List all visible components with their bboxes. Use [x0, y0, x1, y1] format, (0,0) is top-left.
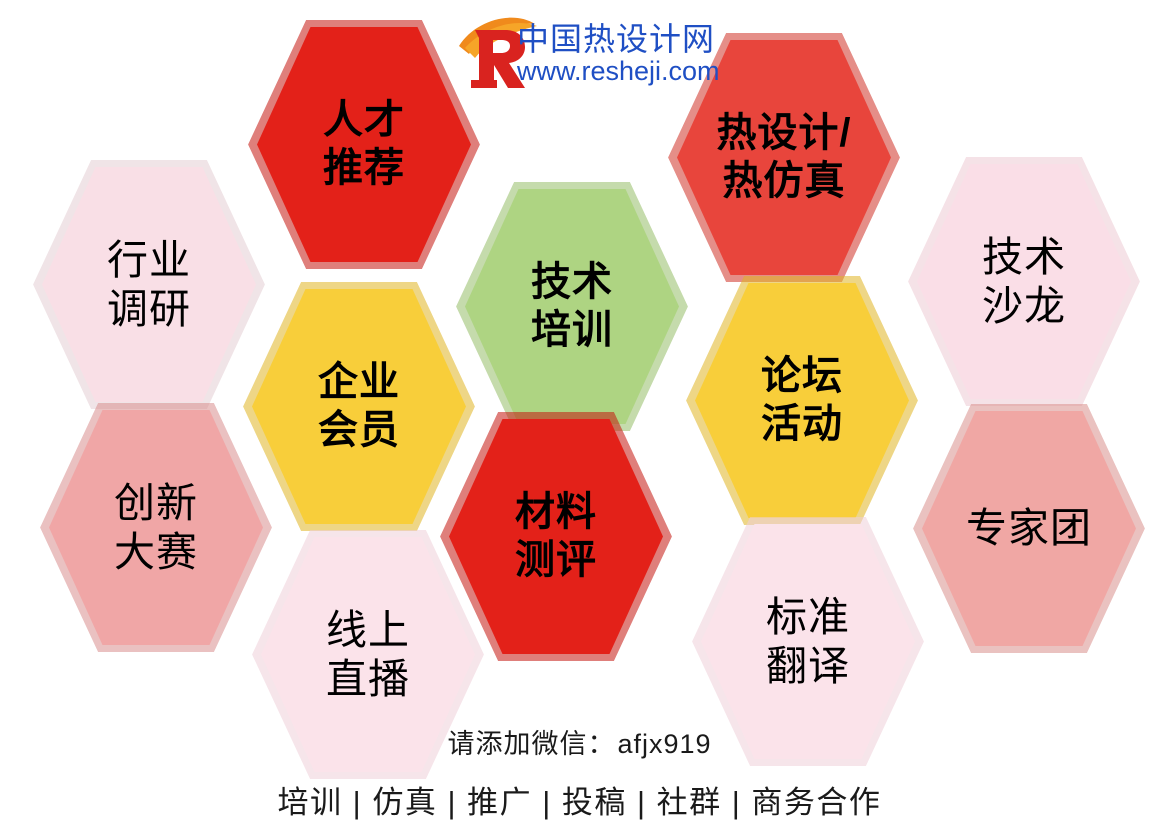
hexagon-label: 技术 沙龙 [982, 233, 1066, 330]
hexagon-expert-team[interactable]: 专家团 [913, 404, 1145, 653]
hexagon-label: 论坛 活动 [761, 353, 843, 447]
wechat-id: afjx919 [617, 729, 711, 759]
services-list: 培训 | 仿真 | 推广 | 投稿 | 社群 | 商务合作 [0, 777, 1159, 822]
wechat-label: 请添加微信： [447, 729, 615, 759]
hexagon-label: 人才 推荐 [323, 97, 405, 191]
logo-chinese-name: 中国热设计网 [517, 14, 715, 60]
hexagon-label: 材料 测评 [515, 489, 597, 583]
hexagon-industry-research[interactable]: 行业 调研 [33, 160, 265, 409]
hexagon-enterprise-member[interactable]: 企业 会员 [243, 282, 475, 531]
hexagon-label: 行业 调研 [107, 236, 191, 333]
hexagon-label: 技术 培训 [531, 259, 613, 353]
hexagon-label: 热设计/ 热仿真 [716, 110, 851, 204]
hexagon-label: 线上 直播 [326, 606, 410, 703]
hexagon-label: 企业 会员 [318, 359, 400, 453]
hexagon-technical-training[interactable]: 技术 培训 [456, 182, 688, 431]
hexagon-innovation-contest[interactable]: 创新 大赛 [40, 403, 272, 652]
infographic-canvas: 人才 推荐行业 调研热设计/ 热仿真技术 培训技术 沙龙企业 会员论坛 活动创新… [0, 0, 1159, 828]
hexagon-technical-salon[interactable]: 技术 沙龙 [908, 157, 1140, 406]
hexagon-forum-activity[interactable]: 论坛 活动 [686, 276, 918, 525]
hexagon-label: 创新 大赛 [114, 479, 198, 576]
site-logo[interactable]: 中国热设计网 www.resheji.com [455, 12, 685, 96]
hexagon-label: 专家团 [966, 504, 1092, 552]
logo-website-url: www.resheji.com [517, 56, 720, 87]
hexagon-talent-recommendation[interactable]: 人才 推荐 [248, 20, 480, 269]
hexagon-label: 标准 翻译 [766, 593, 850, 690]
wechat-contact-line: 请添加微信：afjx919 [0, 722, 1159, 761]
hexagon-material-evaluation[interactable]: 材料 测评 [440, 412, 672, 661]
